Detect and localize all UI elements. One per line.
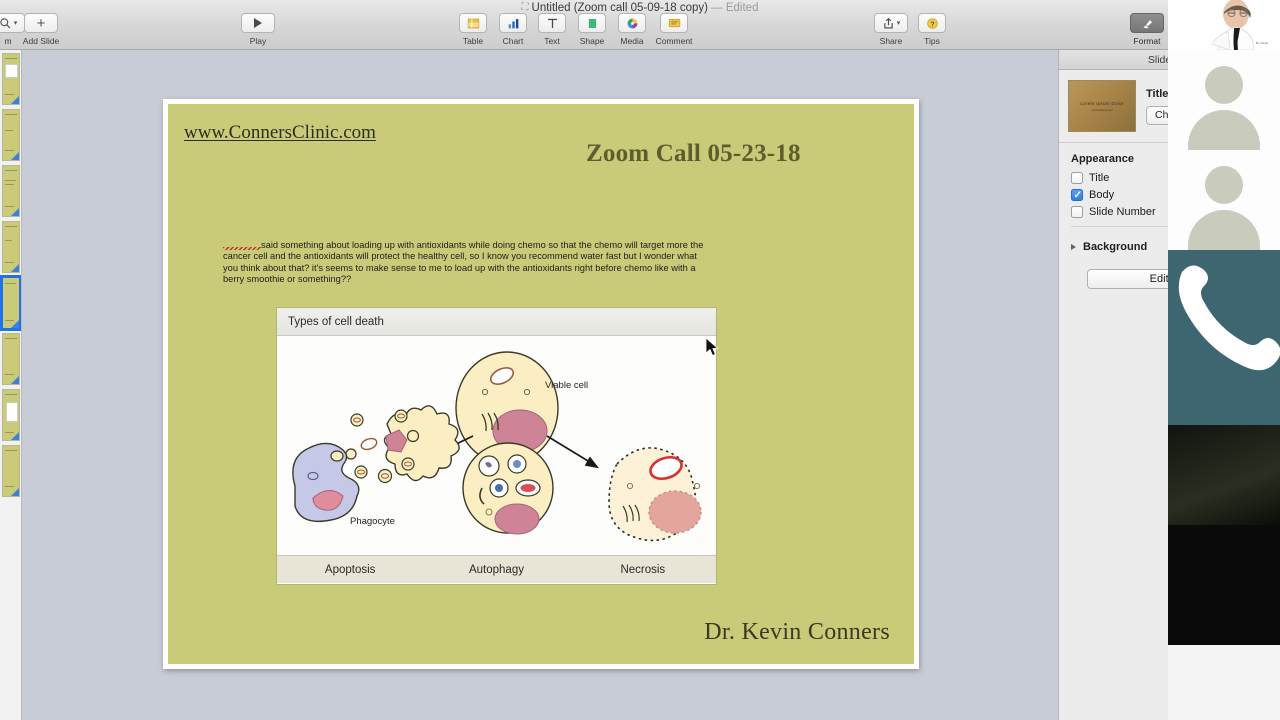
lock-icon: ⛶ (522, 2, 529, 13)
shape-label: Shape (580, 36, 605, 46)
master-thumb-line1: Lorem Ipsum Dolor (1080, 101, 1123, 106)
avatar-body-icon (1188, 210, 1260, 250)
body-checkbox-label: Body (1089, 189, 1114, 201)
add-slide-label: Add Slide (23, 36, 59, 46)
background-label: Background (1083, 241, 1147, 253)
text-button-face[interactable] (538, 13, 566, 33)
tips-icon: ? (926, 17, 939, 30)
thumbnail-corner-icon (11, 152, 19, 160)
footer-label-apoptosis: Apoptosis (277, 564, 423, 576)
viable-cell-label: Viable cell (545, 380, 588, 391)
shape-button-face[interactable] (578, 13, 606, 33)
table-button-face[interactable] (459, 13, 487, 33)
footer-label-necrosis: Necrosis (570, 564, 716, 576)
slide-thumbnail-4[interactable] (2, 221, 20, 273)
media-label: Media (620, 36, 643, 46)
window-edited-status: Edited (726, 2, 759, 14)
slide-thumbnail-7[interactable] (2, 389, 20, 441)
plus-icon: + (37, 16, 46, 31)
slide-number-checkbox[interactable] (1071, 206, 1083, 218)
speaker-video-tile[interactable]: Dr. Kevin (1168, 0, 1280, 50)
participant-phone-tile[interactable] (1168, 250, 1280, 425)
thumbnail-corner-icon (11, 320, 19, 328)
format-button[interactable]: Format (1121, 13, 1173, 46)
thumbnail-corner-icon (11, 96, 19, 104)
speaker-photo: Dr. Kevin (1168, 0, 1280, 50)
spellcheck-underline (223, 241, 261, 250)
text-icon (546, 17, 559, 30)
title-checkbox[interactable] (1071, 172, 1083, 184)
play-icon (254, 18, 262, 28)
tips-label: Tips (924, 36, 940, 46)
slide-thumbnail-1[interactable] (2, 53, 20, 105)
slide-title[interactable]: Zoom Call 05-23-18 (586, 140, 801, 168)
thumbnail-corner-icon (11, 488, 19, 496)
cell-death-figure[interactable]: Types of cell death (276, 307, 717, 585)
paintbrush-icon (1141, 17, 1154, 30)
comment-label: Comment (656, 36, 693, 46)
slide-number-checkbox-label: Slide Number (1089, 206, 1156, 218)
slide-thumbnail-5[interactable] (2, 277, 20, 329)
participant-avatar-tile-1[interactable] (1168, 50, 1280, 150)
body-checkbox[interactable] (1071, 189, 1083, 201)
slide-frame: www.ConnersClinic.com Zoom Call 05-23-18… (163, 99, 919, 669)
figure-footer: Apoptosis Autophagy Necrosis (277, 555, 716, 583)
thumbnail-corner-icon (11, 264, 19, 272)
master-thumb-line2: subheading text (1091, 108, 1112, 112)
zoom-control-label: m (4, 36, 11, 46)
phone-icon (1168, 250, 1280, 425)
participant-video-tile-dark-2[interactable] (1168, 525, 1280, 645)
figure-heading: Types of cell death (277, 308, 716, 336)
master-slide-thumbnail[interactable]: Lorem Ipsum Dolor subheading text (1068, 80, 1136, 132)
comment-button[interactable]: Comment (648, 13, 700, 46)
chart-label: Chart (503, 36, 524, 46)
table-icon (467, 17, 480, 30)
table-label: Table (463, 36, 483, 46)
avatar-head-icon (1205, 66, 1243, 104)
play-button-face[interactable] (241, 13, 275, 33)
slide-body-content: said something about loading up with ant… (223, 240, 703, 284)
svg-text:Dr. Kevin: Dr. Kevin (1256, 41, 1269, 45)
autophagy-cell-glyph (463, 443, 553, 534)
video-call-panel[interactable]: Dr. Kevin (1168, 0, 1280, 720)
share-button-face[interactable]: ▾ (874, 13, 908, 33)
slide-thumbnail-8[interactable] (2, 445, 20, 497)
footer-label-autophagy: Autophagy (423, 564, 569, 576)
format-button-face[interactable] (1130, 13, 1164, 33)
svg-text:?: ? (930, 19, 935, 28)
comment-icon (668, 17, 681, 30)
play-label: Play (250, 36, 267, 46)
tips-button[interactable]: ? Tips (906, 13, 958, 46)
chart-icon (507, 17, 520, 30)
format-label: Format (1134, 36, 1161, 46)
media-icon (626, 17, 639, 30)
slide-navigator[interactable] (0, 50, 22, 720)
chevron-right-icon (1071, 244, 1076, 250)
add-slide-button[interactable]: + Add Slide (15, 13, 67, 46)
add-slide-button-face[interactable]: + (24, 13, 58, 33)
shape-icon (586, 17, 599, 30)
share-icon (882, 17, 895, 30)
participant-video-tile-dark-1[interactable] (1168, 425, 1280, 525)
thumbnail-corner-icon (11, 432, 19, 440)
chart-button-face[interactable] (499, 13, 527, 33)
participant-avatar-tile-2[interactable] (1168, 150, 1280, 250)
slide-thumbnail-3[interactable] (2, 165, 20, 217)
chevron-down-icon: ▾ (897, 19, 901, 27)
title-checkbox-label: Title (1089, 172, 1109, 184)
phagocyte-label: Phagocyte (350, 516, 395, 527)
cell-death-diagram (277, 336, 716, 555)
slide-thumbnail-2[interactable] (2, 109, 20, 161)
share-label: Share (880, 36, 903, 46)
slide-url-link[interactable]: www.ConnersClinic.com (184, 122, 376, 144)
slide-thumbnail-6[interactable] (2, 333, 20, 385)
necrotic-cell-glyph (609, 448, 701, 541)
slide-canvas[interactable]: www.ConnersClinic.com Zoom Call 05-23-18… (22, 50, 1058, 720)
keynote-window: ⛶Untitled (Zoom call 05-09-18 copy) — Ed… (0, 0, 1280, 720)
text-label: Text (544, 36, 560, 46)
play-button[interactable]: Play (232, 13, 284, 46)
avatar-head-icon (1205, 166, 1243, 204)
thumbnail-corner-icon (11, 208, 19, 216)
comment-button-face[interactable] (660, 13, 688, 33)
apoptotic-cell-glyph (346, 406, 459, 483)
zoom-percent-icon (0, 17, 12, 30)
slide-author[interactable]: Dr. Kevin Conners (704, 619, 890, 646)
slide-body-text[interactable]: said something about loading up with ant… (223, 240, 713, 286)
media-button-face[interactable] (618, 13, 646, 33)
thumbnail-corner-icon (11, 376, 19, 384)
slide-surface[interactable]: www.ConnersClinic.com Zoom Call 05-23-18… (168, 104, 914, 664)
toolbar: ⛶Untitled (Zoom call 05-09-18 copy) — Ed… (0, 0, 1280, 50)
mouse-cursor (706, 338, 720, 358)
figure-body: Viable cell Phagocyte (277, 336, 716, 555)
window-title-separator: — (711, 2, 723, 14)
avatar-body-icon (1188, 110, 1260, 150)
tips-button-face[interactable]: ? (918, 13, 946, 33)
participant-video-tile-white[interactable] (1168, 645, 1280, 720)
